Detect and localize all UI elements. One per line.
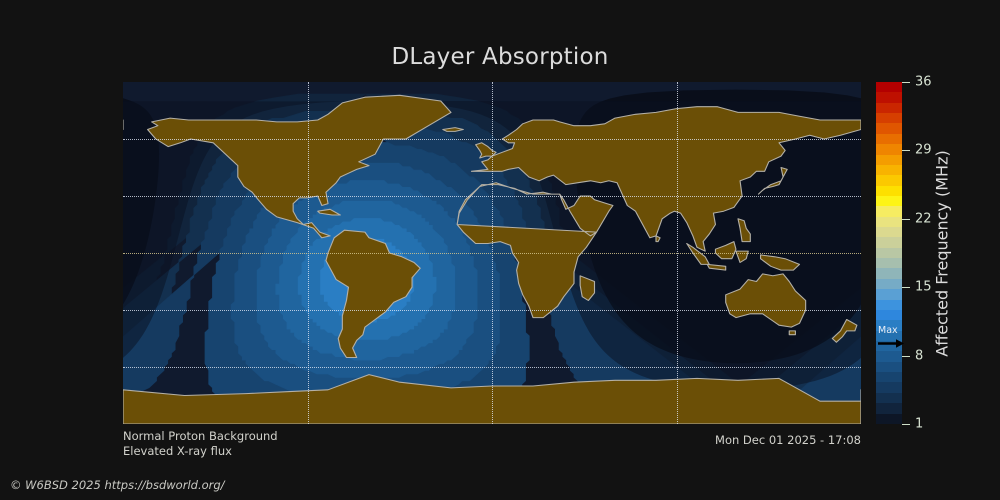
colorbar-band [876, 123, 902, 133]
colorbar-axis-label-text: Affected Frequency (MHz) [933, 150, 952, 356]
colorbar-band [876, 310, 902, 320]
map-notes: Normal Proton Background Elevated X-ray … [123, 429, 278, 459]
colorbar[interactable] [876, 82, 902, 424]
colorbar-band [876, 362, 902, 372]
colorbar-band [876, 351, 902, 361]
colorbar-band [876, 372, 902, 382]
colorbar-band [876, 155, 902, 165]
colorbar-band [876, 196, 902, 206]
page-title: DLayer Absorption [0, 44, 1000, 70]
colorbar-band [876, 300, 902, 310]
colorbar-tick-mark [902, 424, 910, 425]
colorbar-band [876, 382, 902, 392]
colorbar-band [876, 393, 902, 403]
world-map[interactable] [123, 82, 861, 424]
max-marker-arrow-icon [878, 339, 904, 348]
colorbar-band [876, 206, 902, 216]
colorbar-band [876, 258, 902, 268]
colorbar-axis-label: Affected Frequency (MHz) [930, 82, 954, 424]
colorbar-band [876, 103, 902, 113]
colorbar-band [876, 414, 902, 424]
colorbar-tick-label: 8 [915, 349, 923, 362]
colorbar-band [876, 144, 902, 154]
colorbar-tick-mark [902, 150, 910, 151]
colorbar-band [876, 237, 902, 247]
colorbar-band [876, 403, 902, 413]
colorbar-tick-label: 1 [915, 418, 923, 431]
colorbar-max-marker: Max [876, 326, 906, 352]
colorbar-band [876, 268, 902, 278]
colorbar-band [876, 279, 902, 289]
colorbar-band [876, 134, 902, 144]
colorbar-band [876, 165, 902, 175]
timestamp: Mon Dec 01 2025 - 17:08 [715, 433, 861, 447]
colorbar-tick-mark [902, 219, 910, 220]
note-xray-flux: Elevated X-ray flux [123, 444, 278, 459]
colorbar-tick-mark [902, 287, 910, 288]
colorbar-tick-mark [902, 356, 910, 357]
colorbar-band [876, 175, 902, 185]
colorbar-band [876, 82, 902, 92]
colorbar-band [876, 186, 902, 196]
credit-line: © W6BSD 2025 https://bsdworld.org/ [10, 478, 225, 492]
colorbar-band [876, 113, 902, 123]
colorbar-band [876, 289, 902, 299]
app-root: DLayer Absorption 3629221581 Max Affecte… [0, 0, 1000, 500]
landmass [789, 331, 795, 335]
max-marker-label: Max [878, 326, 898, 336]
colorbar-band [876, 248, 902, 258]
note-proton-background: Normal Proton Background [123, 429, 278, 444]
colorbar-band [876, 227, 902, 237]
colorbar-band [876, 217, 902, 227]
map-canvas [123, 82, 861, 424]
colorbar-band [876, 92, 902, 102]
colorbar-tick-mark [902, 82, 910, 83]
